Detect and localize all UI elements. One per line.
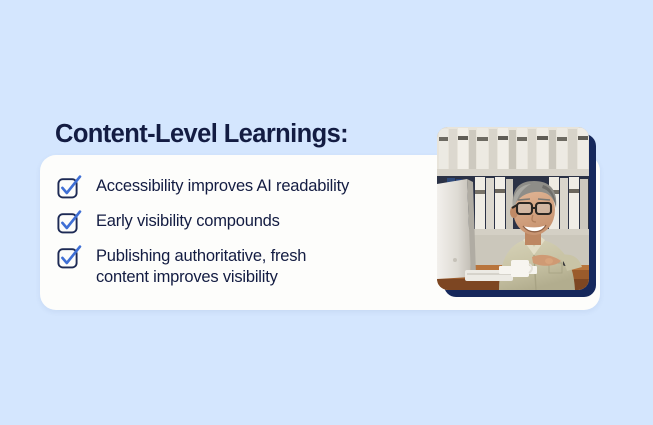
photo-block — [437, 127, 589, 290]
list-item-line-2: content improves visibility — [96, 267, 306, 288]
checkbox-checked-icon — [58, 248, 79, 269]
list-item-line-1: Early visibility compounds — [96, 212, 280, 230]
checkbox-checked-icon — [58, 213, 79, 234]
list-item-label: Publishing authoritative, fresh content … — [96, 246, 306, 288]
learnings-checklist: Accessibility improves AI readability Ea… — [58, 176, 438, 288]
list-item-label: Early visibility compounds — [96, 211, 280, 232]
photo-portrait — [437, 127, 589, 290]
list-item: Publishing authoritative, fresh content … — [58, 246, 438, 288]
list-item: Accessibility improves AI readability — [58, 176, 438, 199]
checkbox-checked-icon — [58, 178, 79, 199]
list-item-label: Accessibility improves AI readability — [96, 176, 349, 197]
list-item: Early visibility compounds — [58, 211, 438, 234]
list-item-line-1: Publishing authoritative, fresh — [96, 247, 306, 265]
slide-canvas: Content-Level Learnings: Accessibility i… — [0, 0, 653, 425]
page-title: Content-Level Learnings: — [55, 119, 348, 150]
list-item-line-1: Accessibility improves AI readability — [96, 177, 349, 195]
